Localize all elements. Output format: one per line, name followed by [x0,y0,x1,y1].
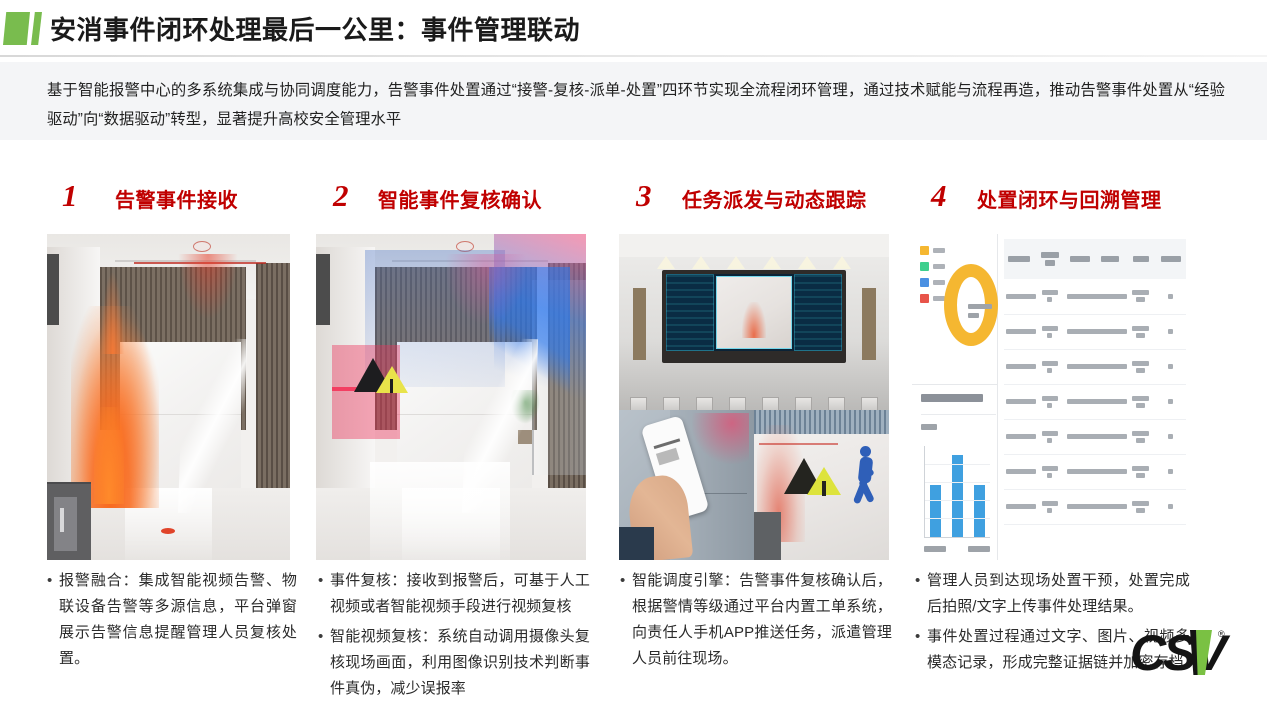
legend-item [920,262,945,271]
control-room-scene [619,234,889,413]
corridor-video-review-photo [316,234,586,560]
table-header-row [1004,239,1186,279]
table-row[interactable] [1004,454,1186,489]
list-item: • 智能视频复核：系统自动调用摄像头复核现场画面，利用图像识别技术判断事件真伪，… [318,624,590,702]
bar [952,455,963,537]
event-dashboard-screenshot [912,234,1190,560]
step-1-bullets: • 报警融合：集成智能视频告警、物联设备告警等多源信息，平台弹窗展示告警信息提醒… [47,568,297,676]
table-column-header [1065,239,1095,279]
page-title: 安消事件闭环处理最后一公里：事件管理联动 [50,10,580,47]
table-row[interactable] [1004,384,1186,419]
list-item: • 智能调度引擎：告警事件复核确认后，根据警情等级通过平台内置工单系统，向责任人… [620,568,892,672]
table-row[interactable] [1004,349,1186,384]
table-row[interactable] [1004,489,1186,524]
step-1-header: 1 告警事件接收 [47,178,295,218]
dashboard-left-panel [912,234,998,560]
table-column-header [1034,239,1064,279]
step-2-header: 2 智能事件复核确认 [318,178,590,218]
table-row[interactable] [1004,279,1186,314]
donut-chart [944,264,998,346]
list-item: • 报警融合：集成智能视频告警、物联设备告警等多源信息，平台弹窗展示告警信息提醒… [47,568,297,672]
dashboard-table-panel [998,234,1190,560]
step-2-title: 智能事件复核确认 [378,184,542,213]
step-column-3: 3 任务派发与动态跟踪 [620,178,892,218]
bullet-marker-icon: • [318,624,330,702]
brand-logo-icon [3,12,41,45]
table-column-header [1095,239,1125,279]
running-person-icon [854,446,876,539]
control-room-dispatch-photo [619,234,889,560]
bar-chart [924,446,990,538]
step-1-number: 1 [62,178,78,214]
legend-item [920,246,945,255]
subtitle-band: 基于智能报警中心的多系统集成与协同调度能力，告警事件处置通过“接警-复核-派单-… [0,62,1267,140]
header-divider [0,55,1267,57]
phone-dispatch-scene [619,410,754,560]
csv-watermark-logo: CSV ® [1130,628,1234,680]
table-row[interactable] [1004,314,1186,349]
legend-item [920,278,945,287]
bullet-marker-icon: • [620,568,632,672]
step-4-title: 处置闭环与回溯管理 [977,184,1162,213]
step-3-title: 任务派发与动态跟踪 [682,184,867,213]
list-item: • 管理人员到达现场处置干预，处置完成后拍照/文字上传事件处理结果。 [915,568,1190,620]
corridor-fire-alarm-photo [47,234,290,560]
table-column-header [1156,239,1186,279]
step-1-title: 告警事件接收 [115,184,238,213]
step-3-number: 3 [636,178,652,214]
step-column-2: 2 智能事件复核确认 [318,178,590,218]
step-4-number: 4 [931,178,947,214]
step-column-1: 1 告警事件接收 [47,178,295,218]
bar [930,485,941,537]
bullet-marker-icon: • [47,568,59,672]
onsite-response-scene [754,410,889,560]
subtitle-text: 基于智能报警中心的多系统集成与协同调度能力，告警事件处置通过“接警-复核-派单-… [47,76,1225,134]
alarm-red-glow [178,254,238,320]
events-table [1004,239,1186,525]
legend-item [920,294,945,303]
step-2-number: 2 [333,178,349,214]
registered-mark: ® [1218,629,1225,639]
page-header: 安消事件闭环处理最后一公里：事件管理联动 [0,0,1267,57]
bar [974,485,985,537]
step-column-4: 4 处置闭环与回溯管理 [915,178,1195,218]
smoke-detector-icon [193,241,211,252]
bullet-marker-icon: • [915,624,927,676]
step-2-bullets: • 事件复核：接收到报警后，可基于人工视频或者智能视频手段进行视频复核 • 智能… [318,568,590,706]
table-column-header [1125,239,1155,279]
video-wall [666,274,842,351]
list-item: • 事件复核：接收到报警后，可基于人工视频或者智能视频手段进行视频复核 [318,568,590,620]
bullet-marker-icon: • [915,568,927,620]
bar-chart-title [921,394,983,402]
step-3-header: 3 任务派发与动态跟踪 [620,178,892,218]
bar-chart-axis-label [921,424,937,430]
warning-triangle-icon [354,358,392,392]
table-row[interactable] [1004,419,1186,454]
step-3-bullets: • 智能调度引擎：告警事件复核确认后，根据警情等级通过平台内置工单系统，向责任人… [620,568,892,676]
donut-legend [920,246,945,310]
step-4-header: 4 处置闭环与回溯管理 [915,178,1195,218]
table-column-header [1004,239,1034,279]
bullet-marker-icon: • [318,568,330,620]
warning-triangle-icon [784,458,824,494]
fire-flame [71,306,158,508]
